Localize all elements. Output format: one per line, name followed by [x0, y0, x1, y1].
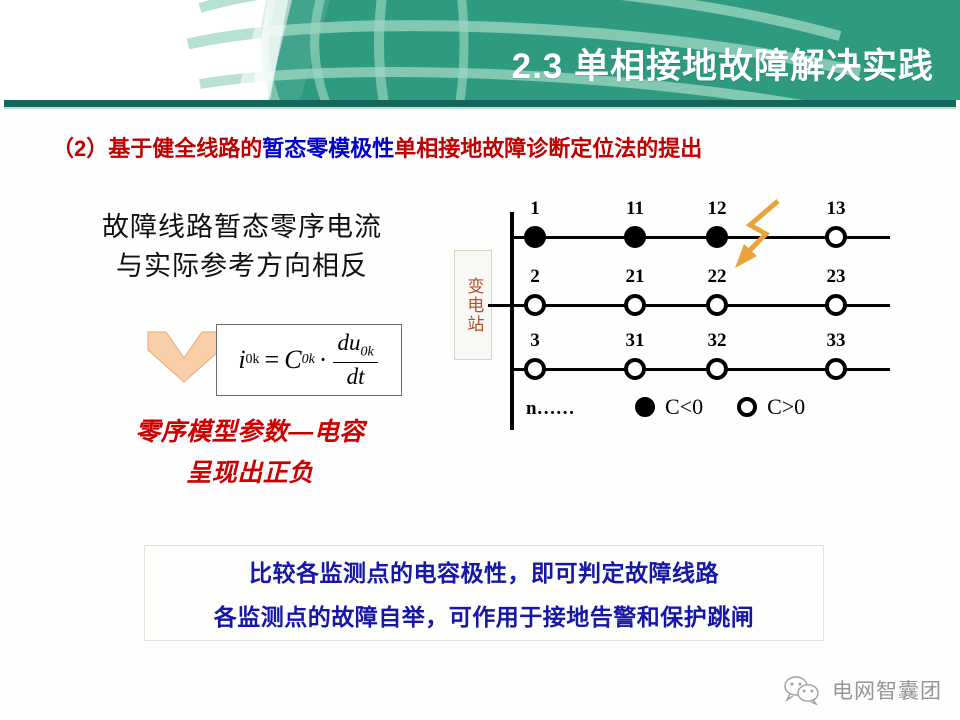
busbar-line [510, 212, 514, 430]
header-divider [4, 100, 956, 107]
formula-box: i0k=C0k· du0k dt [216, 324, 402, 396]
node-label-22: 22 [697, 266, 737, 288]
node-33[interactable] [825, 358, 847, 380]
node-label-33: 33 [816, 330, 856, 352]
emphasis-text: 零序模型参数—电容 呈现出正负 [70, 412, 430, 495]
legend-item-positive: C>0 [737, 394, 805, 420]
formula-denominator: dt [333, 363, 377, 390]
subtitle-segment-1: （2）基于健全线路的 [52, 136, 262, 161]
wechat-icon [782, 674, 822, 706]
formula-fraction: du0k dt [333, 330, 377, 390]
formula-rhs-var: C [284, 345, 301, 375]
section-subtitle: （2）基于健全线路的暂态零模极性单相接地故障诊断定位法的提出 [52, 131, 702, 163]
node-11[interactable] [624, 226, 646, 248]
node-label-3: 3 [515, 330, 555, 352]
down-chevron-arrow-icon [146, 328, 222, 386]
formula-equals: = [265, 345, 280, 375]
emphasis-line-1: 零序模型参数—电容 [70, 412, 430, 453]
slide-root: 2.3 单相接地故障解决实践 （2）基于健全线路的暂态零模极性单相接地故障诊断定… [0, 0, 960, 720]
diagram-legend: C<0 C>0 [635, 394, 805, 420]
node-12[interactable] [706, 226, 728, 248]
left-statement: 故障线路暂态零序电流 与实际参考方向相反 [72, 208, 412, 287]
watermark-text: 电网智囊团 [832, 675, 942, 705]
legend-item-negative: C<0 [635, 394, 703, 420]
emphasis-line-2: 呈现出正负 [70, 453, 430, 494]
substation-label-box: 变电站 [454, 250, 492, 360]
node-label-11: 11 [615, 198, 655, 220]
feeder-network-diagram: 变电站 1 11 12 13 2 21 22 23 [440, 190, 910, 450]
node-13[interactable] [825, 226, 847, 248]
formula-numerator: du0k [333, 330, 377, 363]
conclusion-line-2: 各监测点的故障自举，可作用于接地告警和保护跳闸 [214, 598, 755, 632]
formula-numerator-sub: 0k [360, 345, 373, 360]
slide-header: 2.3 单相接地故障解决实践 [0, 0, 960, 100]
node-2[interactable] [524, 294, 546, 316]
subtitle-segment-2: 暂态零模极性 [262, 136, 394, 161]
watermark: 电网智囊团 [782, 674, 942, 706]
node-label-1: 1 [515, 198, 555, 220]
statement-line-2: 与实际参考方向相反 [72, 247, 412, 286]
formula-numerator-var: du [337, 330, 360, 355]
subtitle-segment-3: 单相接地故障诊断定位法的提出 [394, 136, 702, 161]
header-divider-light [4, 107, 956, 109]
legend-label-negative: C<0 [665, 394, 703, 420]
page-title: 2.3 单相接地故障解决实践 [512, 38, 934, 89]
node-31[interactable] [624, 358, 646, 380]
node-label-21: 21 [615, 266, 655, 288]
filled-circle-icon [635, 397, 655, 417]
node-23[interactable] [825, 294, 847, 316]
zero-sequence-formula: i0k=C0k· du0k dt [217, 325, 401, 395]
substation-label: 变电站 [463, 277, 484, 334]
conclusion-box: 比较各监测点的电容极性，即可判定故障线路 各监测点的故障自举，可作用于接地告警和… [144, 545, 824, 641]
node-32[interactable] [706, 358, 728, 380]
formula-lhs-sub: 0k [246, 352, 260, 368]
node-21[interactable] [624, 294, 646, 316]
formula-lhs-var: i [238, 345, 245, 375]
continuation-label: n…… [526, 398, 575, 420]
node-22[interactable] [706, 294, 728, 316]
node-1[interactable] [524, 226, 546, 248]
conclusion-line-1: 比较各监测点的电容极性，即可判定故障线路 [249, 554, 719, 588]
node-label-32: 32 [697, 330, 737, 352]
open-circle-icon [737, 397, 757, 417]
node-label-31: 31 [615, 330, 655, 352]
fault-lightning-arrow-icon [730, 196, 792, 272]
legend-label-positive: C>0 [767, 394, 805, 420]
node-label-13: 13 [816, 198, 856, 220]
statement-line-1: 故障线路暂态零序电流 [72, 208, 412, 247]
formula-rhs-sub: 0k [302, 352, 315, 368]
formula-dot-operator: · [319, 345, 328, 375]
node-label-23: 23 [816, 266, 856, 288]
node-label-2: 2 [515, 266, 555, 288]
substation-connector-line [488, 304, 512, 307]
node-3[interactable] [524, 358, 546, 380]
